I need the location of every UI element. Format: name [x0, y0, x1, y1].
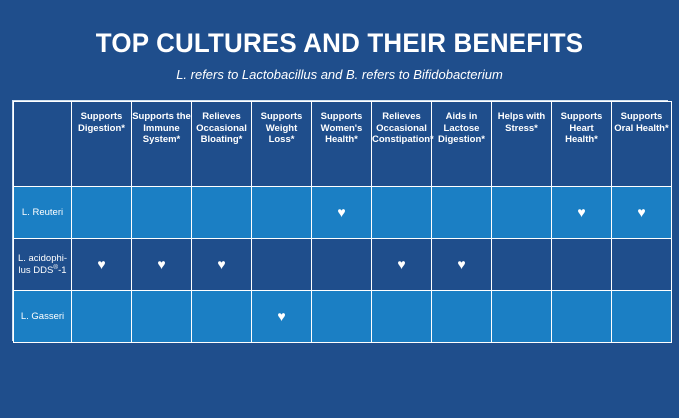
table-header: Supports Digestion*Supports the Immune S… — [14, 102, 672, 187]
benefit-cell-r2-c7: ♥ — [432, 239, 492, 291]
benefit-cell-r2-c2: ♥ — [132, 239, 192, 291]
benefit-cell-r3-c9: ♥ — [552, 291, 612, 343]
heart-icon: ♥ — [457, 257, 465, 271]
page-subtitle: L. refers to Lactobacillus and B. refers… — [0, 67, 679, 83]
column-header-1: Supports Digestion* — [72, 102, 132, 187]
benefit-cell-r1-c8: ♥ — [492, 187, 552, 239]
benefit-cell-r3-c8: ♥ — [492, 291, 552, 343]
heart-icon: ♥ — [577, 205, 585, 219]
heart-icon: ♥ — [97, 257, 105, 271]
heart-icon: ♥ — [337, 205, 345, 219]
row-label-line2: lus DDS®-1 — [18, 265, 66, 276]
heart-icon: ♥ — [277, 309, 285, 323]
column-header-5: Supports Women's Health* — [312, 102, 372, 187]
benefit-cell-r2-c4: ♥ — [252, 239, 312, 291]
benefit-cell-r2-c8: ♥ — [492, 239, 552, 291]
heart-icon: ♥ — [217, 257, 225, 271]
row-label-3: L. Gasseri — [14, 291, 72, 343]
benefit-cell-r3-c4: ♥ — [252, 291, 312, 343]
column-header-6: Relieves Occasional Constipation* — [372, 102, 432, 187]
benefit-cell-r1-c1: ♥ — [72, 187, 132, 239]
benefit-cell-r3-c7: ♥ — [432, 291, 492, 343]
benefit-cell-r3-c2: ♥ — [132, 291, 192, 343]
table-row: L. Gasseri♥♥♥♥♥♥♥♥♥♥ — [14, 291, 672, 343]
column-header-4: Supports Weight Loss* — [252, 102, 312, 187]
row-label-2: L. acidophi-lus DDS®-1 — [14, 239, 72, 291]
benefit-cell-r3-c1: ♥ — [72, 291, 132, 343]
heart-icon: ♥ — [157, 257, 165, 271]
benefit-cell-r1-c3: ♥ — [192, 187, 252, 239]
benefit-cell-r1-c10: ♥ — [612, 187, 672, 239]
registered-trademark-symbol: ® — [53, 263, 58, 270]
benefit-cell-r2-c10: ♥ — [612, 239, 672, 291]
header-row: Supports Digestion*Supports the Immune S… — [14, 102, 672, 187]
row-label-line1: L. acidophi- — [18, 253, 67, 264]
benefit-cell-r2-c6: ♥ — [372, 239, 432, 291]
benefit-cell-r1-c2: ♥ — [132, 187, 192, 239]
benefit-cell-r1-c9: ♥ — [552, 187, 612, 239]
benefit-cell-r1-c6: ♥ — [372, 187, 432, 239]
column-header-2: Supports the Immune System* — [132, 102, 192, 187]
benefit-cell-r3-c3: ♥ — [192, 291, 252, 343]
benefit-cell-r2-c5: ♥ — [312, 239, 372, 291]
row-label-line1: L. Gasseri — [21, 311, 64, 322]
benefits-table: Supports Digestion*Supports the Immune S… — [13, 101, 672, 343]
benefit-cell-r1-c7: ♥ — [432, 187, 492, 239]
column-header-10: Supports Oral Health* — [612, 102, 672, 187]
benefits-table-container: Supports Digestion*Supports the Immune S… — [12, 100, 668, 341]
row-label-line1: L. Reuteri — [22, 207, 63, 218]
row-label-1: L. Reuteri — [14, 187, 72, 239]
heart-icon: ♥ — [637, 205, 645, 219]
page-title: TOP CULTURES AND THEIR BENEFITS — [14, 28, 666, 58]
heart-icon: ♥ — [397, 257, 405, 271]
benefit-cell-r1-c4: ♥ — [252, 187, 312, 239]
benefit-cell-r3-c10: ♥ — [612, 291, 672, 343]
table-row: L. Reuteri♥♥♥♥♥♥♥♥♥♥ — [14, 187, 672, 239]
column-header-8: Helps with Stress* — [492, 102, 552, 187]
column-header-3: Relieves Occasional Bloating* — [192, 102, 252, 187]
heading-block: TOP CULTURES AND THEIR BENEFITS L. refer… — [0, 28, 679, 83]
header-corner-cell — [14, 102, 72, 187]
benefit-cell-r2-c9: ♥ — [552, 239, 612, 291]
benefit-cell-r2-c3: ♥ — [192, 239, 252, 291]
table-body: L. Reuteri♥♥♥♥♥♥♥♥♥♥L. acidophi-lus DDS®… — [14, 187, 672, 343]
infographic-page: TOP CULTURES AND THEIR BENEFITS L. refer… — [0, 0, 679, 418]
benefit-cell-r3-c6: ♥ — [372, 291, 432, 343]
table-row: L. acidophi-lus DDS®-1♥♥♥♥♥♥♥♥♥♥ — [14, 239, 672, 291]
column-header-7: Aids in Lactose Digestion* — [432, 102, 492, 187]
benefit-cell-r1-c5: ♥ — [312, 187, 372, 239]
benefit-cell-r3-c5: ♥ — [312, 291, 372, 343]
column-header-9: Supports Heart Health* — [552, 102, 612, 187]
benefit-cell-r2-c1: ♥ — [72, 239, 132, 291]
